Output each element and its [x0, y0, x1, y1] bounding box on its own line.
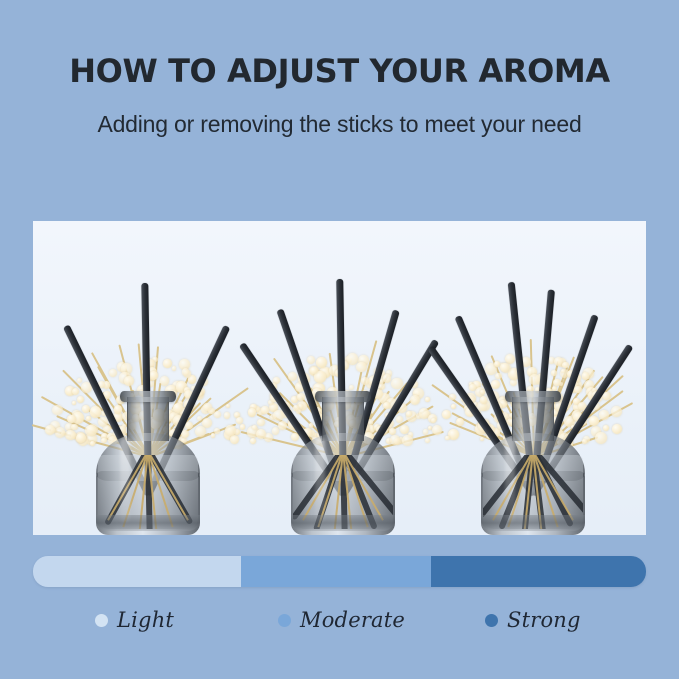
- page-title: HOW TO ADJUST YOUR AROMA: [0, 52, 679, 90]
- legend-label: Moderate: [300, 608, 405, 632]
- legend-dot-icon: [95, 614, 108, 627]
- legend-dot-icon: [485, 614, 498, 627]
- legend-item-light: Light: [95, 608, 174, 632]
- photo-background: [33, 221, 646, 535]
- legend-item-moderate: Moderate: [278, 608, 405, 632]
- intensity-segment-light: [33, 556, 241, 587]
- intensity-segment-moderate: [241, 556, 431, 587]
- legend-dot-icon: [278, 614, 291, 627]
- legend-label: Strong: [507, 608, 581, 632]
- legend-item-strong: Strong: [485, 608, 581, 632]
- product-photo-panel: [33, 221, 646, 535]
- aroma-instruction-poster: HOW TO ADJUST YOUR AROMA Adding or remov…: [0, 0, 679, 679]
- page-subtitle: Adding or removing the sticks to meet yo…: [0, 111, 679, 138]
- legend-label: Light: [117, 608, 174, 632]
- intensity-segment-strong: [431, 556, 646, 587]
- intensity-legend: Light Moderate Strong: [33, 608, 646, 648]
- intensity-gradient-bar: [33, 556, 646, 587]
